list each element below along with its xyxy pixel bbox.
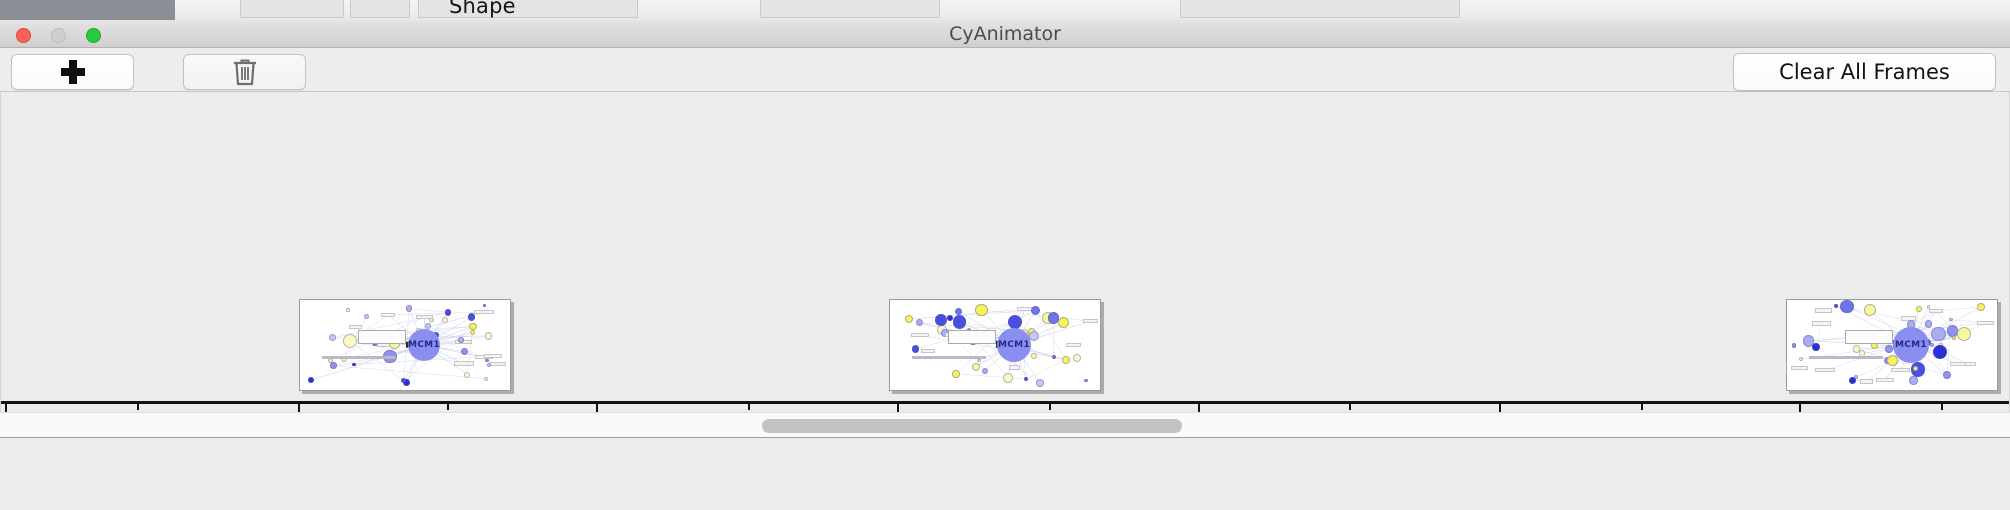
network-node [464, 372, 470, 378]
network-node-label [1891, 368, 1910, 372]
title-bar: CyAnimator [0, 20, 2010, 48]
network-node [1812, 343, 1819, 350]
scrollbar-thumb[interactable] [762, 419, 1182, 433]
network-node [916, 319, 923, 326]
network-node-label [416, 315, 432, 319]
network-node [1073, 354, 1081, 362]
network-node [947, 315, 953, 321]
network-node [470, 330, 475, 335]
network-node [364, 314, 369, 319]
axis-tick-minor [447, 401, 449, 410]
network-preview: MCM1 [300, 300, 510, 390]
network-node-label [1876, 378, 1894, 382]
network-node-label [1066, 343, 1081, 347]
network-node [982, 368, 988, 374]
background-window-strip: Shape [0, 0, 2010, 20]
axis-tick-major [5, 401, 7, 412]
network-node-label [1083, 319, 1098, 323]
plus-icon [60, 59, 86, 85]
toolbar: Clear All Frames [0, 48, 2010, 92]
network-node [1977, 303, 1985, 311]
background-tab-5 [1180, 0, 1460, 18]
axis-tick-major [596, 401, 598, 412]
network-hub-node: MCM1 [1893, 327, 1929, 363]
frame-thumbnail[interactable]: MCM1 [889, 299, 1101, 391]
axis-tick-major [1799, 401, 1801, 412]
network-node [1927, 305, 1931, 309]
background-tab-1 [240, 0, 344, 18]
network-node [912, 345, 919, 352]
timeline-axis [1, 401, 2010, 404]
network-node [406, 305, 412, 311]
network-node [1949, 318, 1952, 321]
axis-tick-minor [1049, 401, 1051, 410]
network-node [1931, 327, 1945, 341]
network-node-label [454, 361, 473, 365]
network-node-label [1860, 379, 1872, 383]
network-node-label [1009, 365, 1020, 369]
network-node-label [921, 349, 935, 353]
network-node [1003, 373, 1012, 382]
network-hub-node: MCM1 [408, 329, 440, 361]
network-node [484, 377, 488, 381]
window-title: CyAnimator [0, 23, 2010, 45]
network-caption [912, 356, 986, 359]
network-node-label [1977, 321, 1993, 325]
scrollbar-track[interactable] [0, 412, 2010, 438]
network-node [1849, 377, 1856, 384]
network-tooltip [1845, 330, 1893, 344]
axis-tick-minor [1641, 401, 1643, 410]
network-caption [1809, 356, 1883, 359]
network-node [1803, 335, 1815, 347]
network-tooltip [358, 330, 406, 344]
network-node [1031, 353, 1037, 359]
network-node-label [1812, 321, 1831, 325]
network-node-label [381, 313, 395, 317]
network-caption [322, 356, 396, 359]
network-node [442, 317, 448, 323]
network-node-label [1791, 366, 1808, 370]
network-hub-node: MCM1 [997, 328, 1031, 362]
network-node [468, 313, 475, 320]
frame-thumbnail[interactable]: MCM1 [299, 299, 511, 391]
network-node-label [474, 310, 494, 314]
network-node [975, 304, 988, 317]
network-node-label [349, 325, 363, 329]
network-node [458, 337, 463, 342]
network-node [445, 309, 452, 316]
clear-all-frames-button[interactable]: Clear All Frames [1733, 53, 1996, 91]
network-node [1036, 379, 1044, 387]
background-window-label: Shape [449, 0, 516, 18]
axis-tick-minor [137, 401, 139, 410]
network-node-label [911, 333, 929, 337]
add-frame-button[interactable] [11, 54, 134, 90]
background-tab-2 [350, 0, 410, 18]
network-node [1885, 345, 1893, 353]
network-node-label [1929, 309, 1943, 313]
network-node [1031, 306, 1040, 315]
network-node-label [1815, 368, 1836, 372]
network-node-label [1815, 308, 1832, 312]
network-node [343, 334, 357, 348]
axis-tick-major [1499, 401, 1501, 412]
network-node [485, 332, 493, 340]
network-node-label [489, 362, 506, 366]
background-window-dark-panel [0, 0, 175, 20]
network-node [469, 323, 476, 330]
network-node [952, 370, 959, 377]
network-node-label [1950, 362, 1966, 366]
network-tooltip [948, 330, 996, 344]
network-node [1930, 343, 1934, 347]
timeline-panel[interactable]: MCM1 MCM1 MCM1 12131415161718 Seconds [0, 92, 2010, 412]
network-node [461, 348, 468, 355]
network-node [1952, 336, 1956, 340]
cyanimator-window: Shape CyAnimator Clear All Frames MCM1 M… [0, 0, 2010, 510]
axis-tick-minor [748, 401, 750, 410]
network-node [346, 308, 349, 311]
axis-tick-major [298, 401, 300, 412]
network-node [1925, 320, 1932, 327]
axis-tick-minor [1349, 401, 1351, 410]
network-node [330, 362, 336, 368]
network-node [953, 315, 967, 329]
network-node [1840, 300, 1854, 314]
network-node [1834, 304, 1838, 308]
axis-tick-minor [1941, 401, 1943, 410]
background-tab-4 [760, 0, 940, 18]
playback-bar: ↻ Animation Speed: [0, 439, 2010, 510]
network-node [1909, 376, 1917, 384]
axis-tick-major [1198, 401, 1200, 412]
axis-tick-major [897, 401, 899, 412]
network-node [972, 363, 980, 371]
trash-icon [232, 57, 258, 87]
network-node [955, 308, 962, 315]
delete-frame-button[interactable] [183, 54, 306, 90]
network-preview: MCM1 [1787, 300, 1997, 390]
network-node [1792, 343, 1796, 347]
frame-thumbnail[interactable]: MCM1 [1786, 299, 1998, 391]
network-preview: MCM1 [890, 300, 1100, 390]
network-node-label [484, 354, 502, 358]
